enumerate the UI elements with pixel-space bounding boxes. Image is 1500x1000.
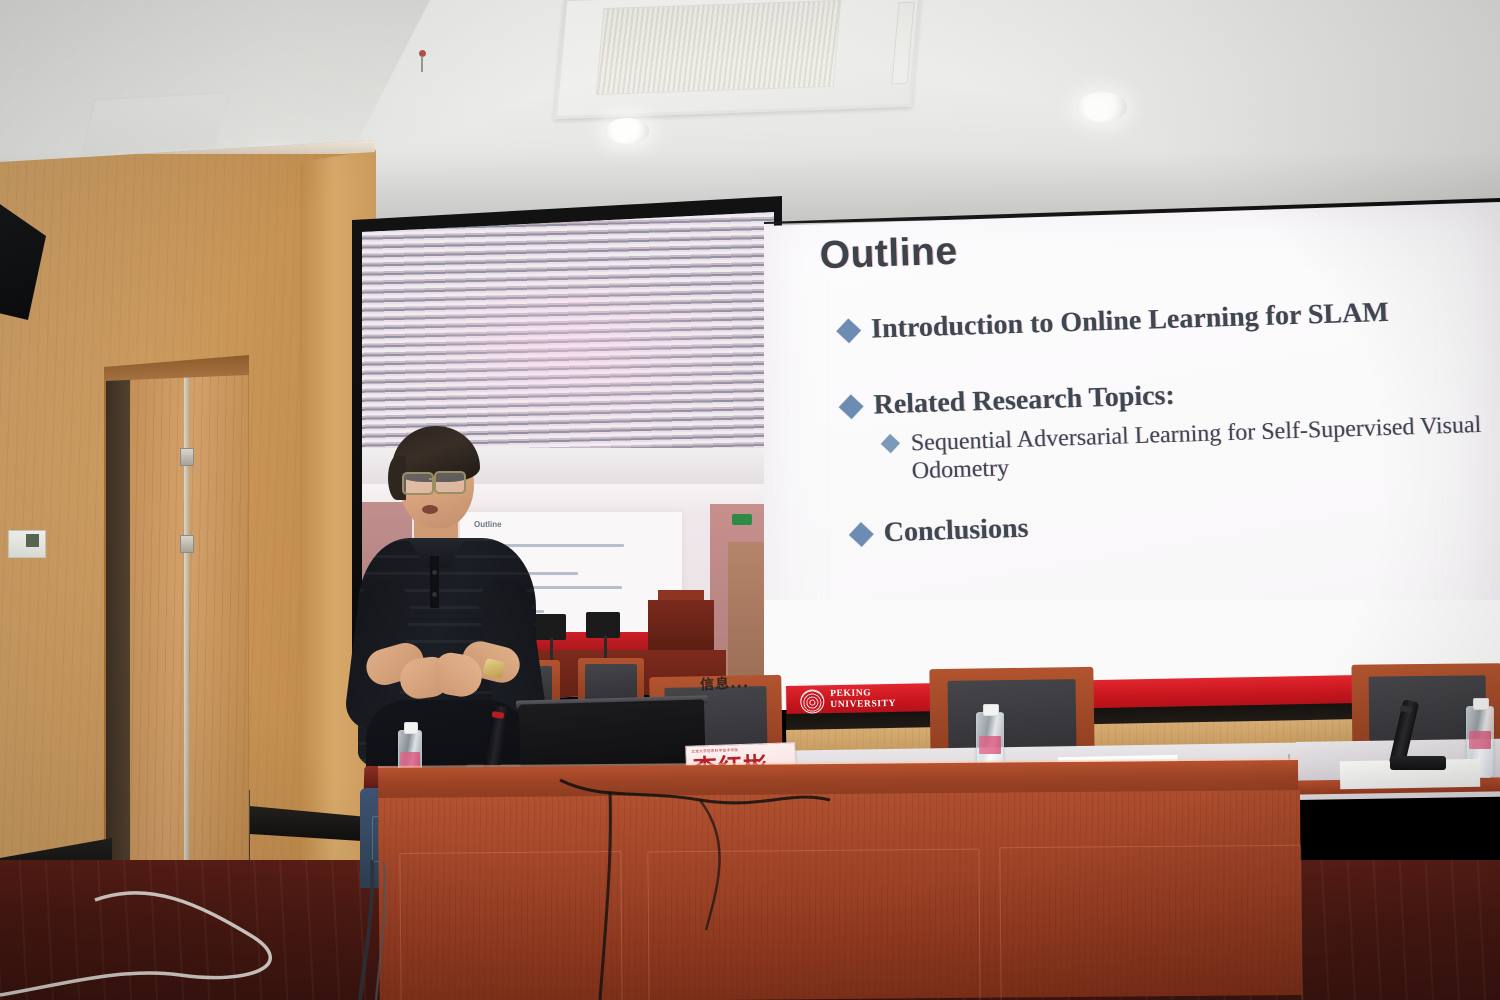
photo-vignette <box>0 0 1500 1000</box>
lecture-room-photo: Outline Outline Introduction to Online L… <box>0 0 1500 1000</box>
